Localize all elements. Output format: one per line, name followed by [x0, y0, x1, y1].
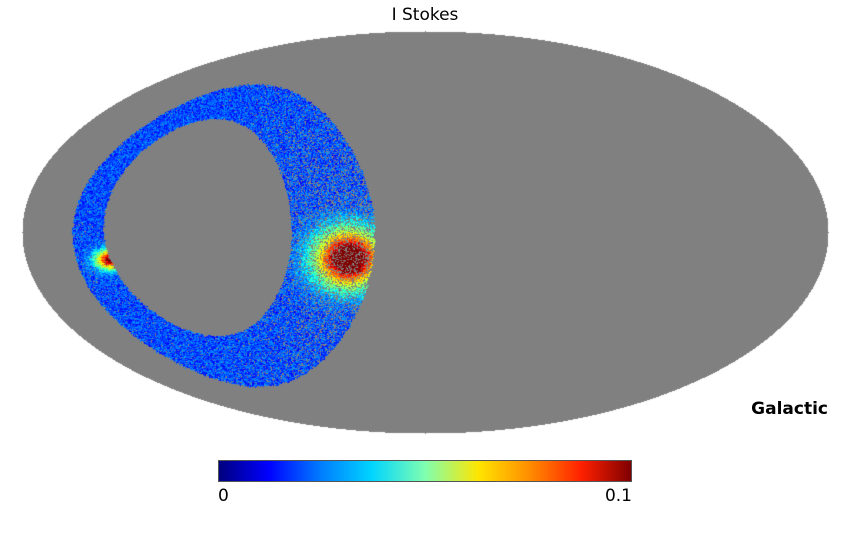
- coordinate-system-label: Galactic: [751, 399, 828, 419]
- sky-map-figure: I Stokes Galactic 0 0.1: [0, 0, 850, 540]
- colorbar[interactable]: 0 0.1: [218, 460, 632, 482]
- colorbar-min-label: 0: [218, 486, 229, 506]
- page-title: I Stokes: [0, 4, 850, 26]
- colorbar-gradient[interactable]: [218, 460, 632, 482]
- colorbar-max-label: 0.1: [605, 486, 632, 506]
- sky-map-canvas: [0, 26, 850, 441]
